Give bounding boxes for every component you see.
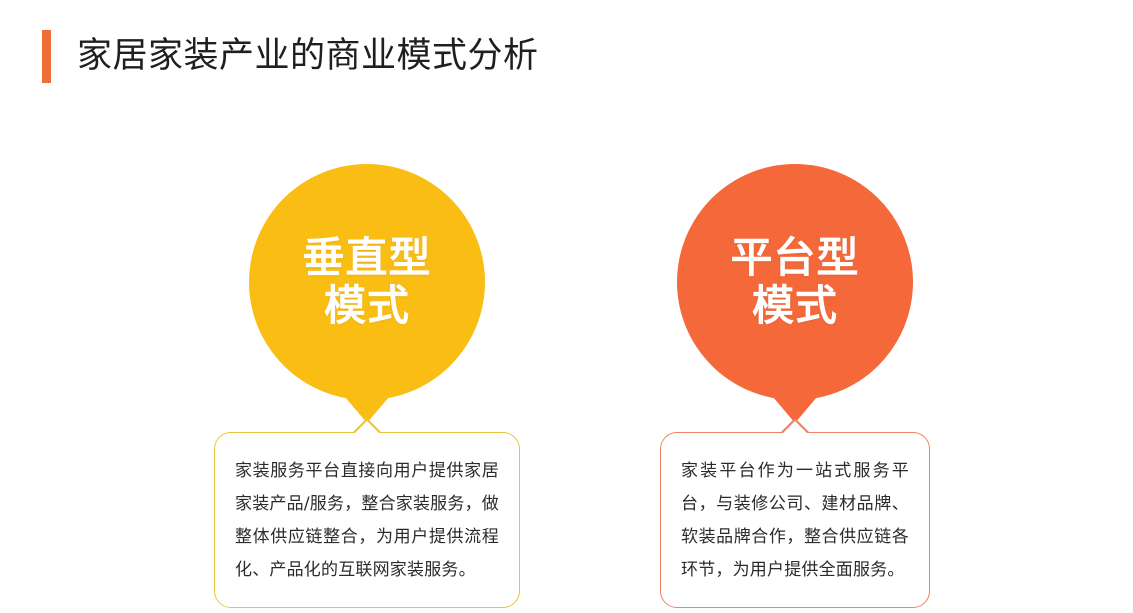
- circle-label-line2: 模式: [730, 282, 859, 330]
- circle-label-line2: 模式: [302, 282, 431, 330]
- circle-platform-model[interactable]: 平台型 模式: [677, 164, 913, 400]
- circle-vertical-model[interactable]: 垂直型 模式: [249, 164, 485, 400]
- callout-vertical-model: 家装服务平台直接向用户提供家居家装产品/服务，整合家装服务，做整体供应链整合，为…: [214, 432, 520, 608]
- slide-canvas: 家居家装产业的商业模式分析 垂直型 模式 家装服务平台直接向用户提供家居家装产品…: [0, 0, 1133, 613]
- column-vertical-model: 垂直型 模式 家装服务平台直接向用户提供家居家装产品/服务，整合家装服务，做整体…: [132, 0, 602, 613]
- callout-notch-inner-icon: [354, 421, 380, 434]
- column-platform-model: 平台型 模式 家装平台作为一站式服务平台，与装修公司、建材品牌、软装品牌合作，整…: [560, 0, 1030, 613]
- callout-platform-model: 家装平台作为一站式服务平台，与装修公司、建材品牌、软装品牌合作，整合供应链各环节…: [660, 432, 930, 608]
- callout-notch-inner-icon: [782, 421, 808, 434]
- title-accent-bar: [42, 30, 51, 83]
- bubble-platform-model[interactable]: 平台型 模式: [677, 164, 913, 423]
- circle-label-line1: 垂直型: [302, 233, 431, 282]
- circle-label-vertical-model: 垂直型 模式: [302, 234, 431, 330]
- circle-label-platform-model: 平台型 模式: [730, 234, 859, 330]
- bubble-vertical-model[interactable]: 垂直型 模式: [249, 164, 485, 423]
- callout-text-vertical-model: 家装服务平台直接向用户提供家居家装产品/服务，整合家装服务，做整体供应链整合，为…: [235, 455, 499, 587]
- circle-label-line1: 平台型: [730, 233, 859, 282]
- callout-text-platform-model: 家装平台作为一站式服务平台，与装修公司、建材品牌、软装品牌合作，整合供应链各环节…: [681, 455, 909, 587]
